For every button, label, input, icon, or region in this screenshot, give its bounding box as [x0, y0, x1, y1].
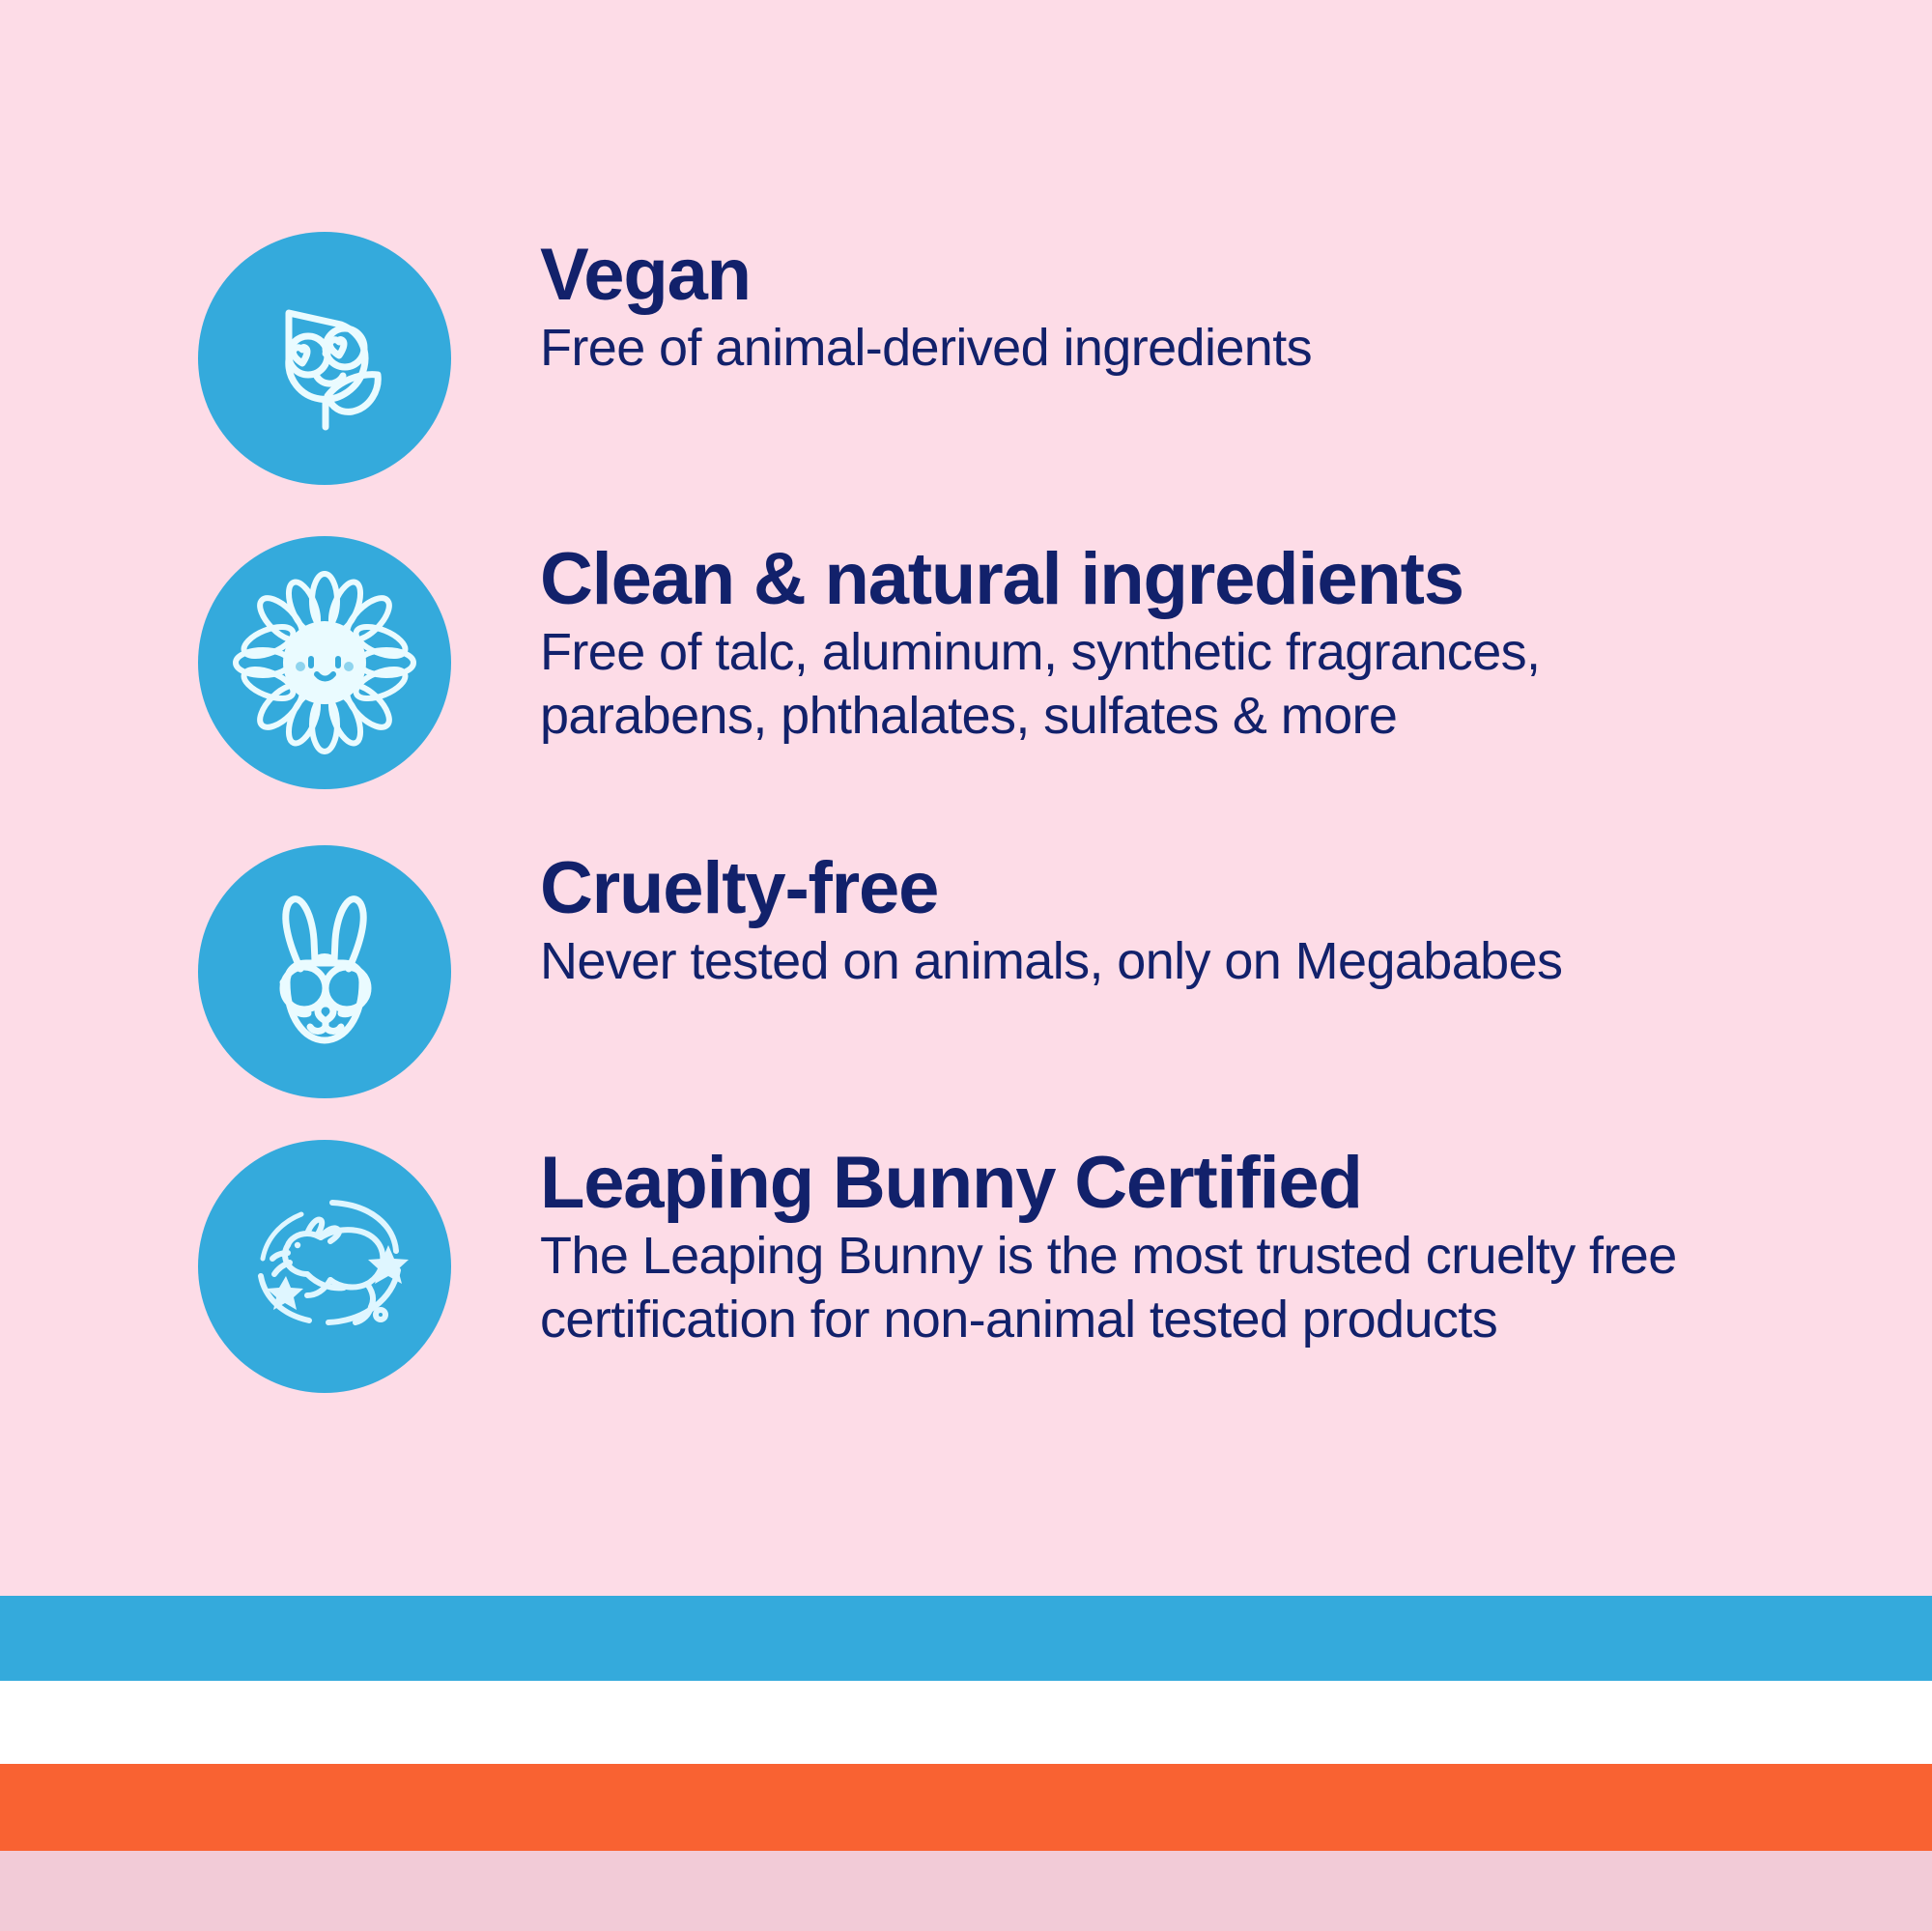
- feature-item-vegan: Vegan Free of animal-derived ingredients: [198, 232, 1312, 485]
- description-line: The Leaping Bunny is the most trusted cr…: [540, 1225, 1677, 1289]
- feature-description: Never tested on animals, only on Megabab…: [540, 930, 1562, 994]
- orange-band: [0, 1764, 1932, 1851]
- feature-text-block: Leaping Bunny Certified The Leaping Bunn…: [540, 1140, 1677, 1352]
- feature-item-leaping-bunny-certified: Leaping Bunny Certified The Leaping Bunn…: [198, 1140, 1677, 1393]
- feature-title: Clean & natural ingredients: [540, 544, 1540, 615]
- description-line: certification for non-animal tested prod…: [540, 1289, 1677, 1352]
- feature-description: The Leaping Bunny is the most trusted cr…: [540, 1225, 1677, 1352]
- feature-text-block: Cruelty-free Never tested on animals, on…: [540, 845, 1562, 994]
- feature-item-cruelty-free: Cruelty-free Never tested on animals, on…: [198, 845, 1562, 1098]
- promo-graphic: Vegan Free of animal-derived ingredients: [0, 0, 1932, 1931]
- feature-title: Cruelty-free: [540, 853, 1562, 924]
- pink-band: [0, 1851, 1932, 1931]
- feature-description: Free of animal-derived ingredients: [540, 317, 1312, 381]
- white-band: [0, 1681, 1932, 1764]
- smiling-daisy-icon: [198, 536, 451, 789]
- leaping-bunny-certification-icon: [198, 1140, 451, 1393]
- blue-band: [0, 1596, 1932, 1681]
- sprout-with-heart-sunglasses-icon: [198, 232, 451, 485]
- feature-item-clean-natural-ingredients: Clean & natural ingredients Free of talc…: [198, 536, 1540, 789]
- description-line: parabens, phthalates, sulfates & more: [540, 685, 1540, 749]
- feature-description: Free of talc, aluminum, synthetic fragra…: [540, 621, 1540, 749]
- feature-text-block: Vegan Free of animal-derived ingredients: [540, 232, 1312, 381]
- description-line: Free of animal-derived ingredients: [540, 317, 1312, 381]
- feature-text-block: Clean & natural ingredients Free of talc…: [540, 536, 1540, 749]
- bunny-with-sunglasses-icon: [198, 845, 451, 1098]
- description-line: Free of talc, aluminum, synthetic fragra…: [540, 621, 1540, 685]
- description-line: Never tested on animals, only on Megabab…: [540, 930, 1562, 994]
- feature-title: Leaping Bunny Certified: [540, 1148, 1677, 1219]
- feature-title: Vegan: [540, 240, 1312, 311]
